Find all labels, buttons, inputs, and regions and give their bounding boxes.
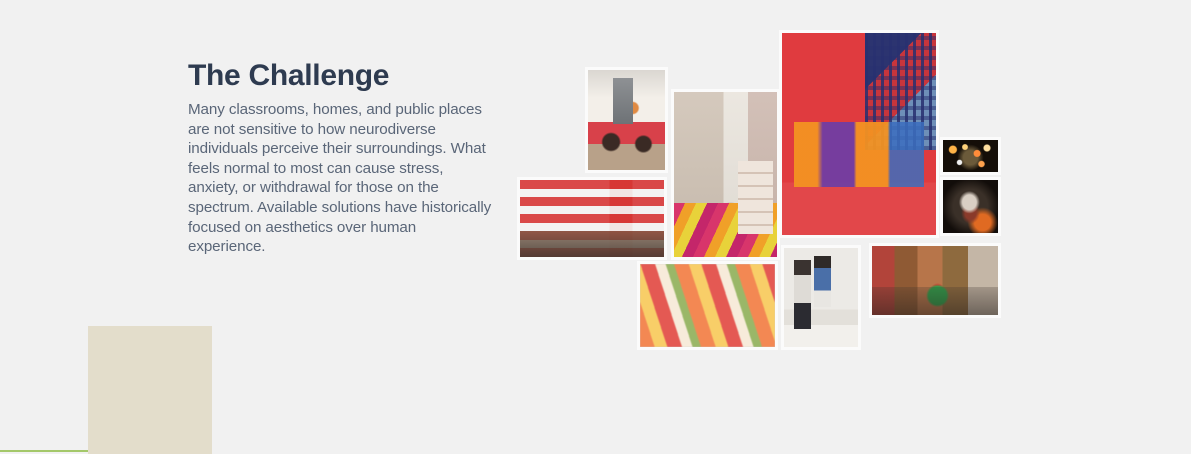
beige-accent-block bbox=[88, 326, 212, 454]
photo-red-playroom-with-furniture-image bbox=[782, 33, 936, 235]
photo-child-on-patterned-bedding-image bbox=[674, 92, 777, 257]
photo-street-red-buildings bbox=[517, 177, 667, 260]
photo-painted-truck-street-art-image bbox=[872, 246, 998, 315]
photo-students-at-exhibition-table bbox=[781, 245, 861, 350]
photo-animal-face-dark-image bbox=[943, 180, 998, 233]
photo-students-at-exhibition-table-image bbox=[784, 248, 858, 347]
photo-bokeh-lights-dark-image bbox=[943, 140, 998, 172]
photo-street-red-buildings-image bbox=[520, 180, 664, 257]
green-accent-rule bbox=[0, 450, 88, 452]
slide-canvas: The Challenge Many classrooms, homes, an… bbox=[0, 0, 1191, 454]
photo-red-playroom-with-furniture bbox=[779, 30, 939, 238]
photo-classroom-children-at-desks-image bbox=[588, 70, 665, 170]
photo-snack-packets-colorful bbox=[637, 261, 778, 350]
photo-painted-truck-street-art bbox=[869, 243, 1001, 318]
photo-child-on-patterned-bedding bbox=[671, 89, 780, 260]
photo-snack-packets-colorful-image bbox=[640, 264, 775, 347]
photo-bokeh-lights-dark bbox=[940, 137, 1001, 175]
body-paragraph: Many classrooms, homes, and public place… bbox=[188, 100, 493, 257]
photo-classroom-children-at-desks bbox=[585, 67, 668, 173]
photo-animal-face-dark bbox=[940, 177, 1001, 236]
text-block: The Challenge Many classrooms, homes, an… bbox=[188, 58, 498, 257]
page-title: The Challenge bbox=[188, 58, 498, 94]
